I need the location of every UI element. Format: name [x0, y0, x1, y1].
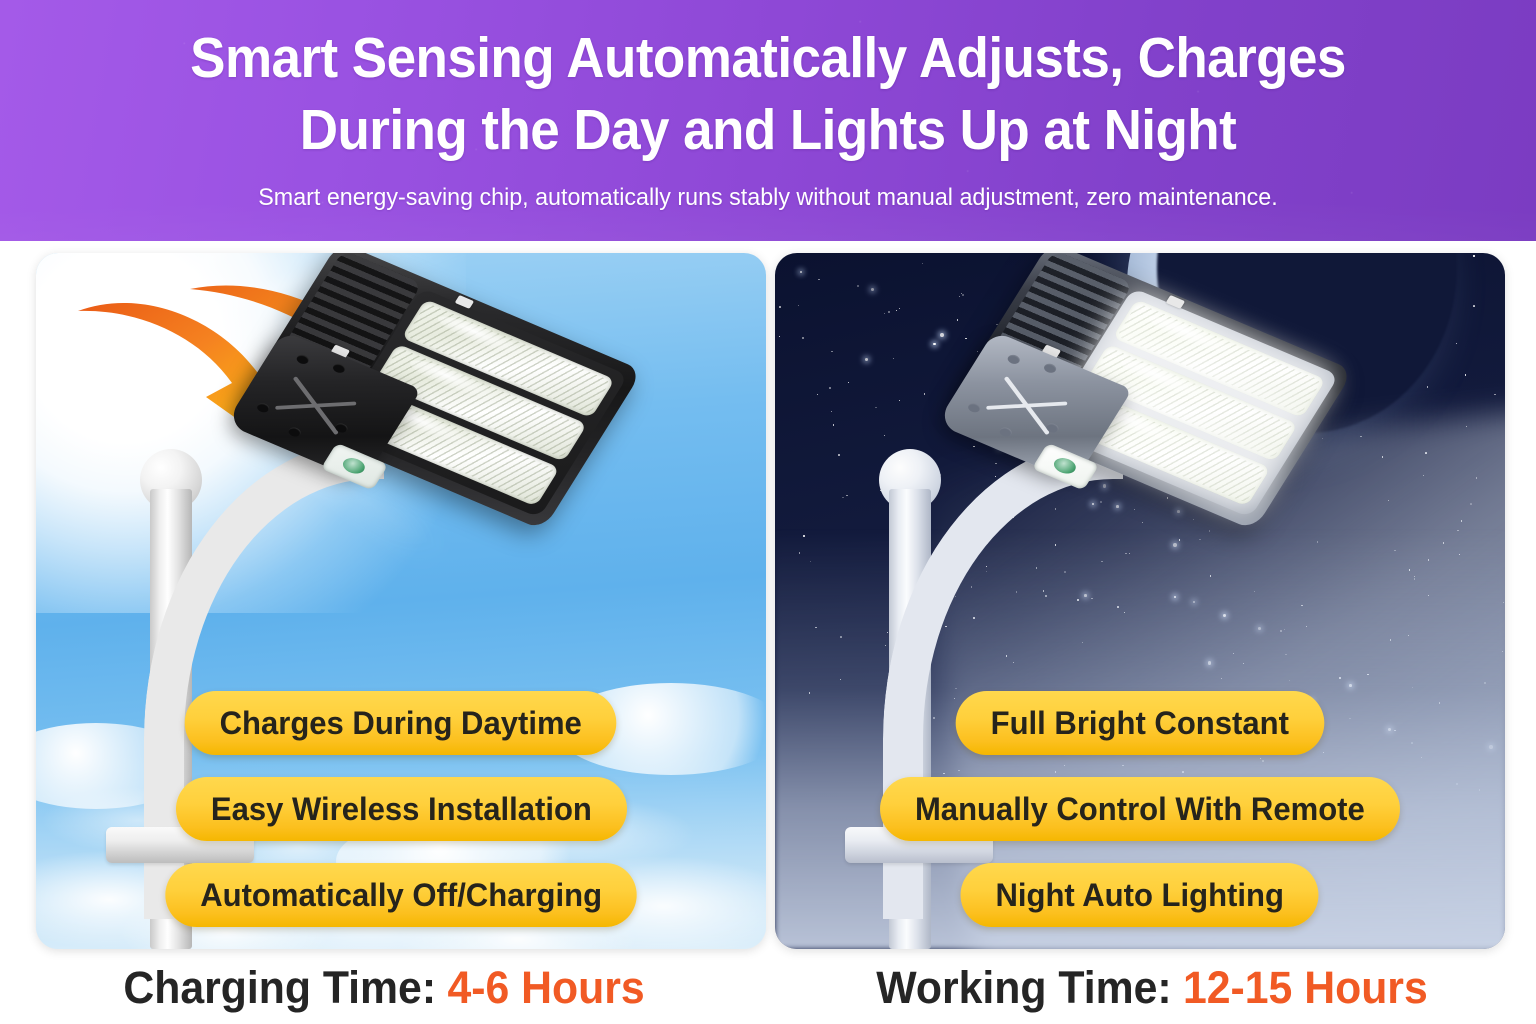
caption-label: Charging Time:: [123, 960, 436, 1016]
page-title-line-1: Smart Sensing Automatically Adjusts, Cha…: [54, 22, 1482, 94]
header-banner: Smart Sensing Automatically Adjusts, Cha…: [0, 0, 1536, 241]
feature-pill: Charges During Daytime: [185, 691, 617, 755]
captions-row: Charging Time: 4-6 Hours Working Time: 1…: [0, 951, 1536, 1024]
caption-value: 12-15 Hours: [1183, 960, 1428, 1016]
feature-pill: Automatically Off/Charging: [165, 863, 637, 927]
feature-pill-list-night: Full Bright Constant Manually Control Wi…: [775, 691, 1505, 927]
feature-pill-list-day: Charges During Daytime Easy Wireless Ins…: [36, 691, 766, 927]
panel-night: Full Bright Constant Manually Control Wi…: [775, 253, 1505, 949]
solar-street-light-icon: [276, 293, 606, 479]
feature-pill: Easy Wireless Installation: [176, 777, 627, 841]
feature-pill: Full Bright Constant: [956, 691, 1324, 755]
caption-working-time: Working Time: 12-15 Hours: [787, 951, 1517, 1024]
feature-pill: Manually Control With Remote: [880, 777, 1400, 841]
caption-label: Working Time:: [876, 960, 1171, 1016]
page-subtitle: Smart energy-saving chip, automatically …: [38, 183, 1497, 213]
caption-charging-time: Charging Time: 4-6 Hours: [19, 951, 749, 1024]
feature-pill: Night Auto Lighting: [961, 863, 1319, 927]
panel-day: Charges During Daytime Easy Wireless Ins…: [36, 253, 766, 949]
solar-street-light-lit-icon: [987, 293, 1317, 479]
page-title-line-2: During the Day and Lights Up at Night: [54, 94, 1482, 166]
panels-row: Charges During Daytime Easy Wireless Ins…: [0, 241, 1536, 951]
caption-value: 4-6 Hours: [447, 960, 644, 1016]
